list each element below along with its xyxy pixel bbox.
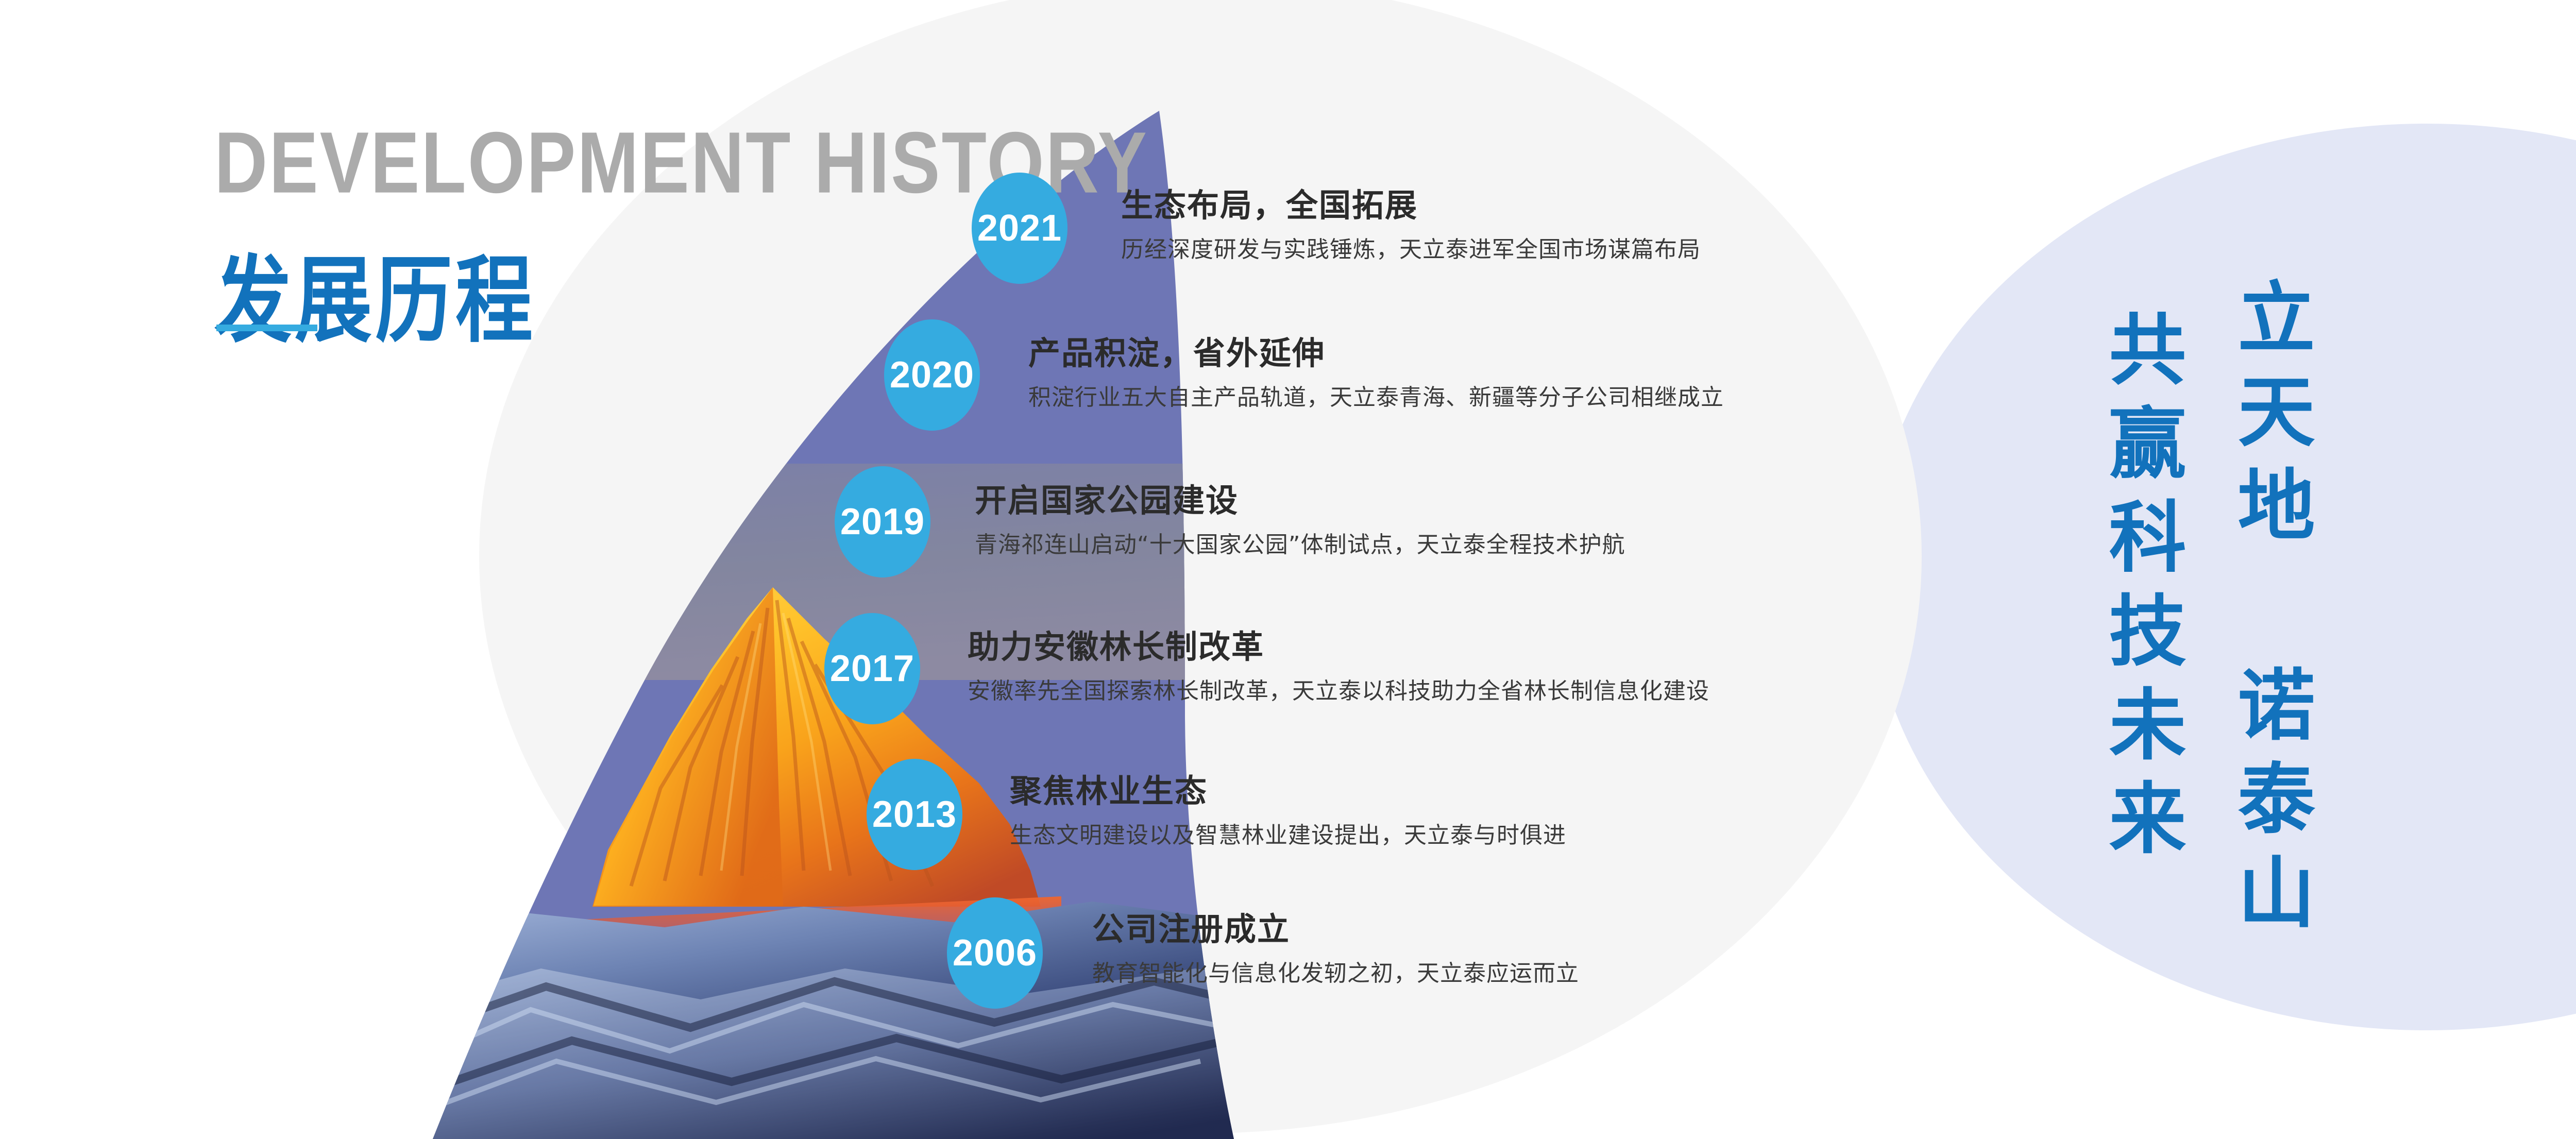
slide-canvas: DEVELOPMENT HISTORY 发展历程 2021 生态布局，全国拓展 …	[0, 0, 2576, 1139]
slogan-column-left: 共赢科技未来	[2102, 309, 2179, 872]
slogan-column-right: 立天地 诺泰山	[2231, 277, 2308, 946]
vertical-slogan: 立天地 诺泰山 共赢科技未来	[0, 0, 2576, 1139]
